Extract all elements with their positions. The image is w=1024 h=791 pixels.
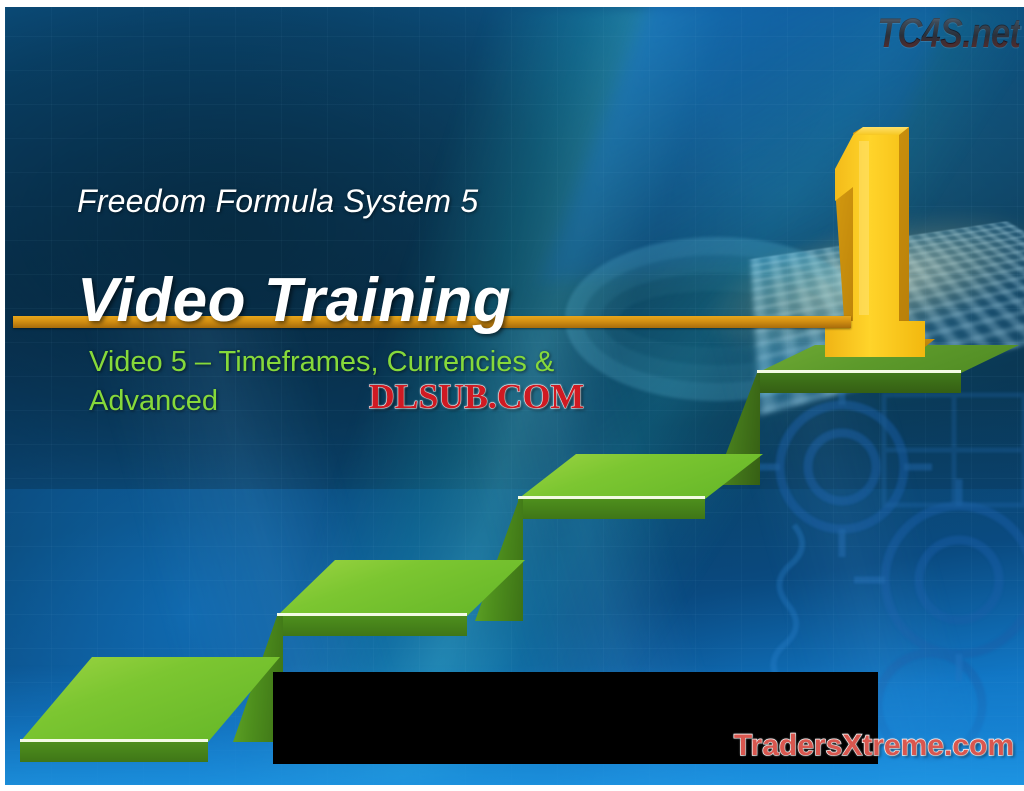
- tradersxtreme-watermark: TradersXtreme.com: [734, 729, 1014, 763]
- staircase-step-2: [277, 560, 525, 616]
- step-top-face: [518, 454, 763, 499]
- staircase-step-1: [20, 657, 280, 742]
- slide-frame: Freedom Formula System 5 Video Training …: [5, 7, 1024, 785]
- numeral-one-graphic: [817, 125, 947, 365]
- tc4s-logo: TC4S.net: [877, 9, 1020, 57]
- step-top-face: [277, 560, 525, 616]
- slide-eyebrow: Freedom Formula System 5: [77, 183, 478, 220]
- step-top-face: [20, 657, 280, 742]
- step-front-face: [518, 499, 705, 519]
- step-front-face: [757, 373, 961, 393]
- step-front-face: [20, 742, 208, 762]
- presentation-slide: Freedom Formula System 5 Video Training …: [0, 0, 1024, 791]
- step-front-face: [277, 616, 467, 636]
- dlsub-watermark: DLSUB.COM: [369, 377, 584, 417]
- staircase-step-3: [518, 454, 763, 499]
- page-title: Video Training: [77, 265, 511, 336]
